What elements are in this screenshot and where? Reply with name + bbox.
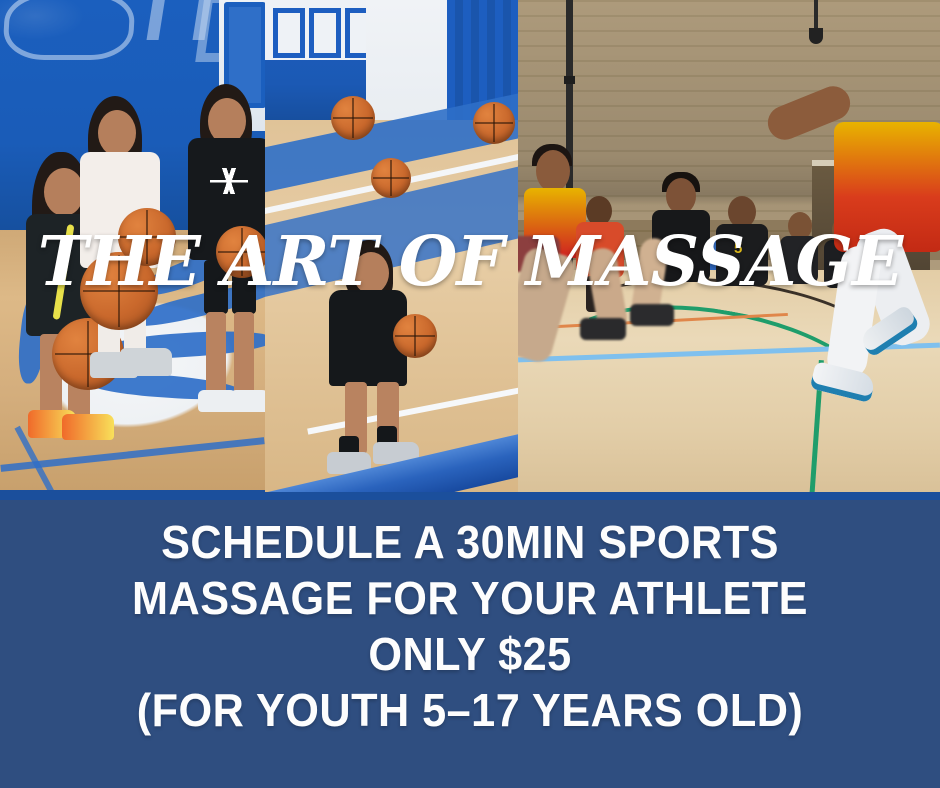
caption-line-3: ONLY $25: [28, 626, 912, 682]
left-photo-youth-girls-with-basketballs: [0, 0, 265, 500]
wall-banner-icon: [2, 0, 136, 60]
basketball-icon: [473, 102, 515, 144]
panel-base-strip: [518, 492, 940, 500]
basketball-icon: [393, 314, 437, 358]
panel-base-strip: [0, 490, 265, 500]
basketball-icon: [216, 226, 265, 278]
caption-line-4: (FOR YOUTH 5–17 YEARS OLD): [28, 682, 912, 738]
basketball-icon: [331, 96, 375, 140]
middle-photo-girl-dribbling: [265, 0, 518, 500]
poster: 5 THE ART OF MASSAGE SCHEDULE A 30M: [0, 0, 940, 788]
caption-band: SCHEDULE A 30MIN SPORTS MASSAGE FOR YOUR…: [0, 500, 940, 788]
apparel-logo-icon: [210, 168, 248, 194]
basketball-icon: [118, 208, 176, 266]
wall-lamp-icon: [814, 0, 818, 32]
caption-line-2: MASSAGE FOR YOUR ATHLETE: [28, 570, 912, 626]
caption-line-1: SCHEDULE A 30MIN SPORTS: [28, 514, 912, 570]
youth-player: [323, 240, 443, 490]
photo-strip: 5: [0, 0, 940, 500]
basketball-icon: [371, 158, 411, 198]
panel-base-strip: [265, 492, 518, 500]
running-athlete: [800, 96, 940, 476]
right-photo-players-running: 5: [518, 0, 940, 500]
player-motion-blur: [580, 318, 626, 340]
youth-player: [186, 84, 265, 484]
player: 5: [716, 196, 772, 316]
player-motion-blur: [630, 304, 674, 326]
caption-text-block: SCHEDULE A 30MIN SPORTS MASSAGE FOR YOUR…: [0, 514, 940, 738]
